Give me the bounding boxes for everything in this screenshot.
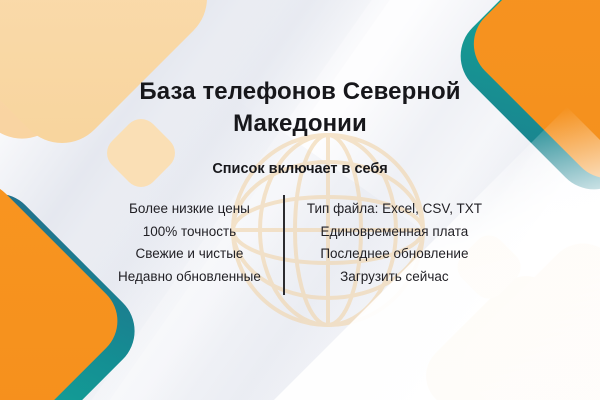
feature-column-left: Более низкие цены 100% точность Свежие и… <box>96 199 283 287</box>
feature-item: 100% точность <box>118 222 261 243</box>
banner-subtitle: Список включает в себя <box>212 161 387 177</box>
feature-item: Более низкие цены <box>118 199 261 220</box>
feature-item: Недавно обновленные <box>118 267 261 288</box>
feature-column-right: Тип файла: Excel, CSV, TXT Единовременна… <box>285 199 504 287</box>
download-now-link[interactable]: Загрузить сейчас <box>307 267 482 288</box>
banner-title: База телефонов Северной Македонии <box>100 76 500 139</box>
banner-content: База телефонов Северной Македонии Список… <box>0 0 600 400</box>
feature-item: Свежие и чистые <box>118 244 261 265</box>
feature-item: Тип файла: Excel, CSV, TXT <box>307 199 482 220</box>
feature-item: Последнее обновление <box>307 244 482 265</box>
feature-item: Единовременная плата <box>307 222 482 243</box>
promo-banner: База телефонов Северной Македонии Список… <box>0 0 600 400</box>
feature-columns: Более низкие цены 100% точность Свежие и… <box>96 199 504 287</box>
